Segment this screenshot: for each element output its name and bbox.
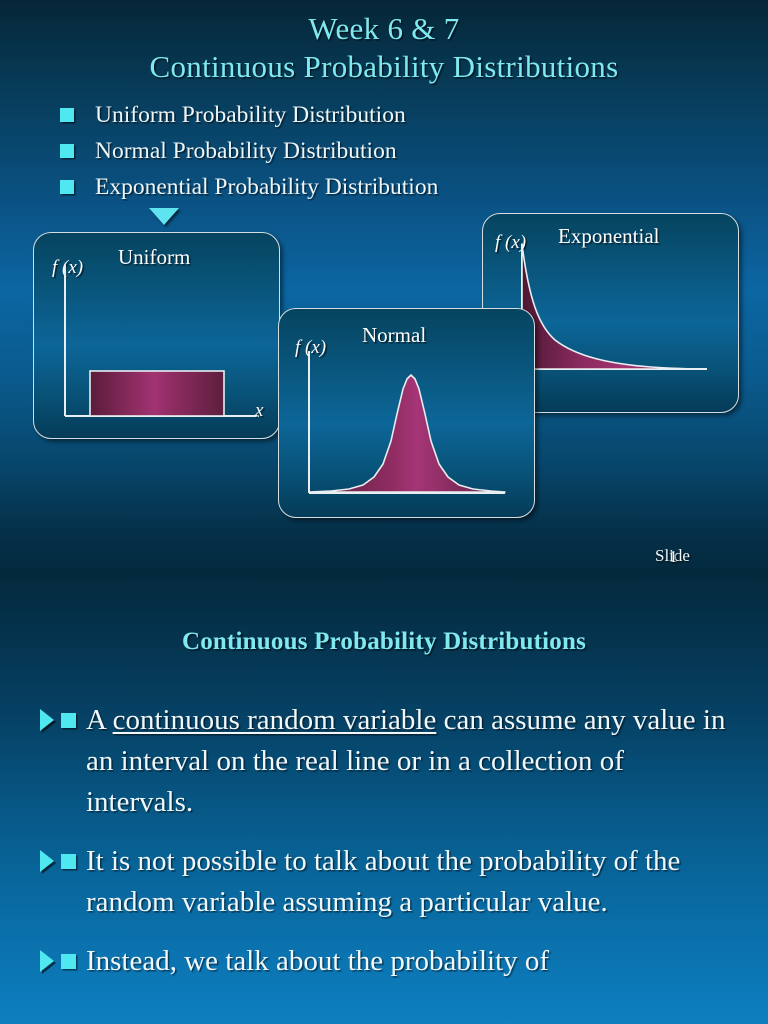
list-item: A continuous random variable can assume … xyxy=(38,700,738,823)
list-item-text: Instead, we talk about the probability o… xyxy=(86,941,549,982)
slide-1: Week 6 & 7 Continuous Probability Distri… xyxy=(0,0,768,578)
list-item: It is not possible to talk about the pro… xyxy=(38,841,738,923)
slide-2: Continuous Probability Distributions A c… xyxy=(0,578,768,1024)
slide-2-bullet-list: A continuous random variable can assume … xyxy=(38,700,738,1000)
list-item-text: It is not possible to talk about the pro… xyxy=(86,841,738,923)
list-item-label: Exponential Probability Distribution xyxy=(95,172,438,202)
list-item: Instead, we talk about the probability o… xyxy=(38,941,738,982)
title-line-1: Week 6 & 7 xyxy=(0,10,768,48)
panel-uniform: Uniform f (x) xyxy=(33,232,280,439)
list-item-label: Normal Probability Distribution xyxy=(95,136,397,166)
chevron-down-icon xyxy=(149,208,179,225)
list-item-text: A continuous random variable can assume … xyxy=(86,700,738,823)
title-line-2: Continuous Probability Distributions xyxy=(0,48,768,86)
triangle-right-icon xyxy=(40,709,54,731)
normal-plot xyxy=(279,309,534,517)
slide-2-title: Continuous Probability Distributions xyxy=(0,628,768,656)
triangle-right-icon xyxy=(40,850,54,872)
text-underlined: continuous random variable xyxy=(113,704,437,736)
list-item: Normal Probability Distribution xyxy=(60,136,700,172)
slide-footer-number: 1 xyxy=(669,547,678,567)
slide-footer: Slide 1 xyxy=(655,546,735,566)
square-bullet-icon xyxy=(61,854,76,869)
list-item-label: Uniform Probability Distribution xyxy=(95,100,406,130)
square-bullet-icon xyxy=(60,180,74,194)
panel-uniform-x-axis-label: x xyxy=(255,400,263,422)
bullet-marker xyxy=(38,848,86,882)
triangle-right-icon xyxy=(40,950,54,972)
slide-1-title: Week 6 & 7 Continuous Probability Distri… xyxy=(0,10,768,86)
uniform-plot xyxy=(34,233,279,438)
distribution-type-list: Uniform Probability Distribution Normal … xyxy=(60,100,700,208)
list-item: Exponential Probability Distribution xyxy=(60,172,700,208)
bullet-marker xyxy=(38,707,86,741)
square-bullet-icon xyxy=(61,954,76,969)
square-bullet-icon xyxy=(60,108,74,122)
panel-normal: Normal f (x) xyxy=(278,308,535,518)
bullet-marker xyxy=(38,948,86,982)
list-item: Uniform Probability Distribution xyxy=(60,100,700,136)
square-bullet-icon xyxy=(61,713,76,728)
text-pre: A xyxy=(86,704,113,736)
square-bullet-icon xyxy=(60,144,74,158)
